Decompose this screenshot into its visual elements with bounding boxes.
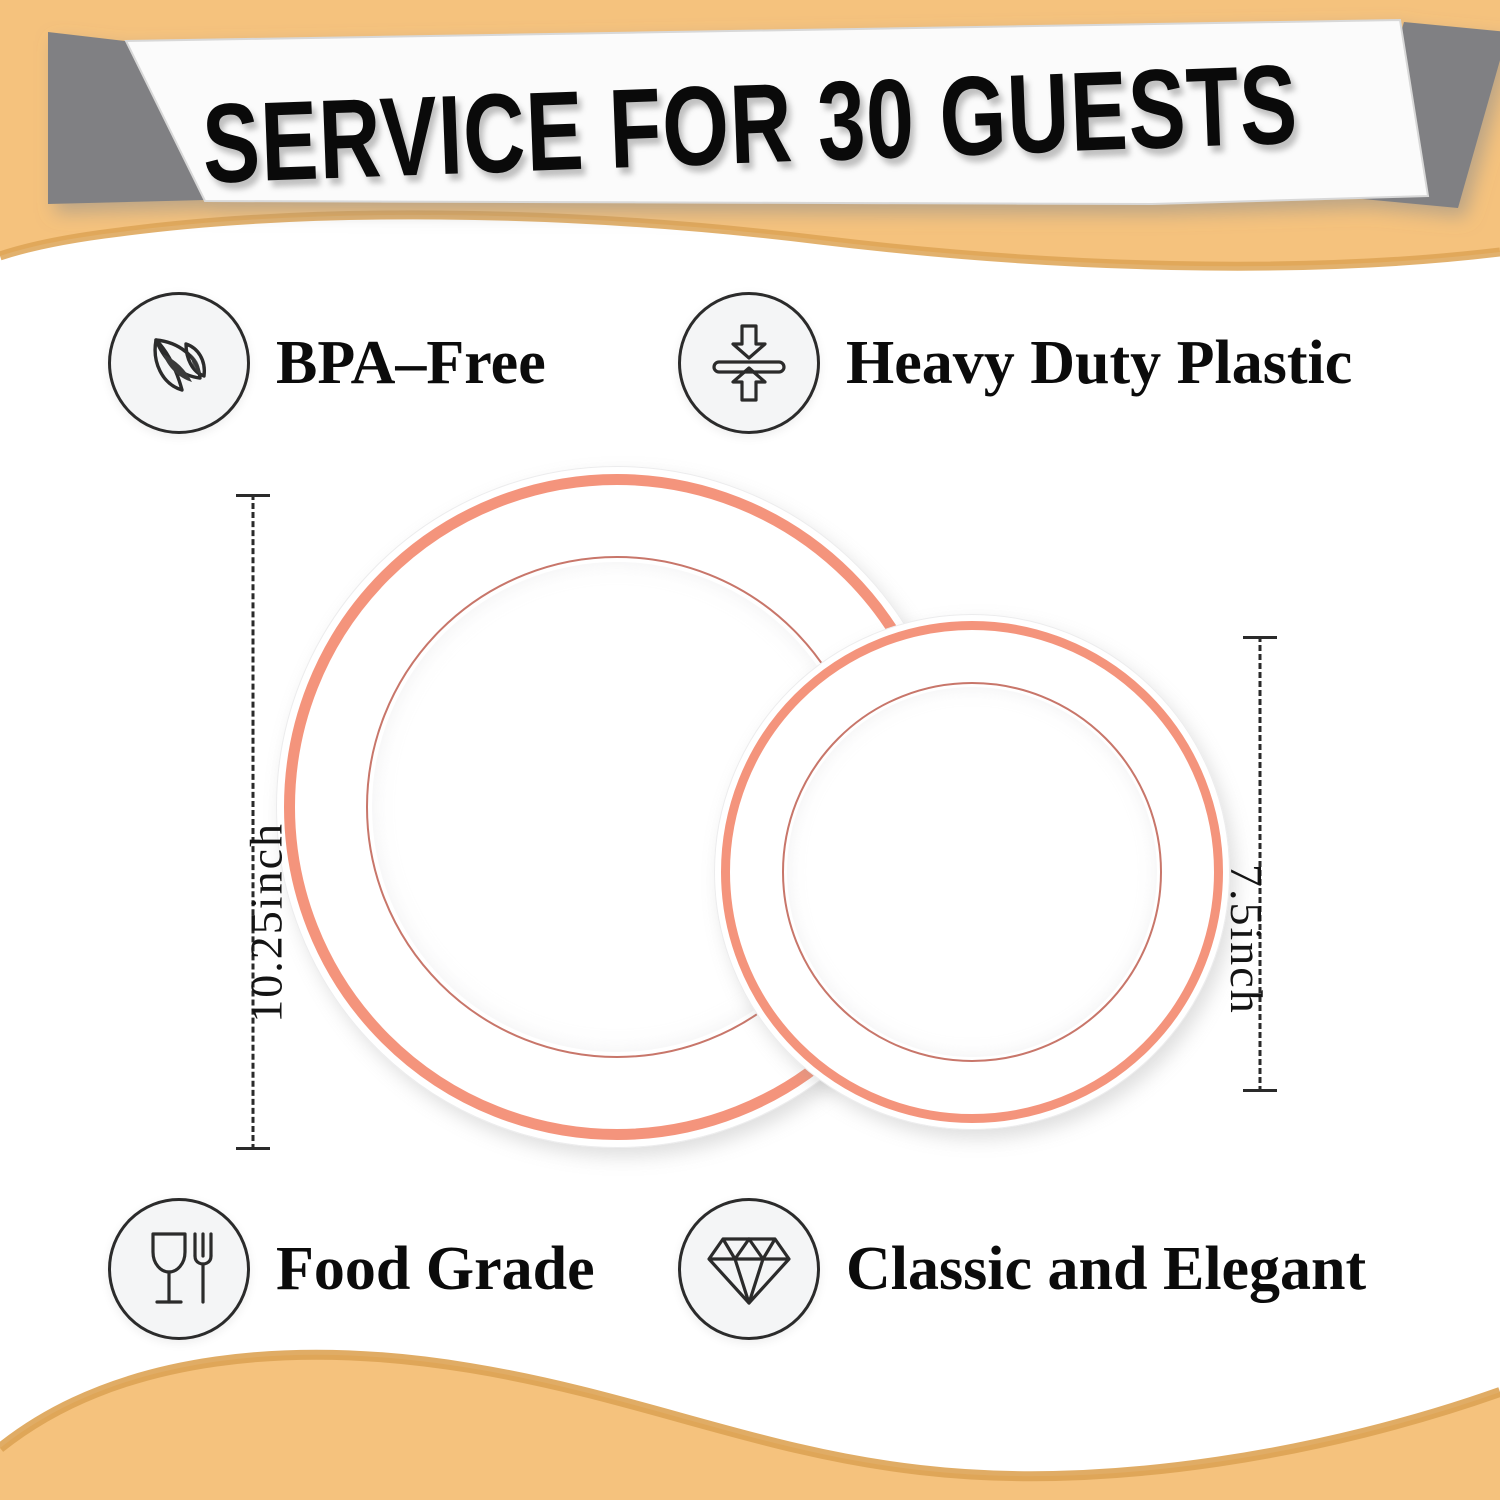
feature-food-grade: Food Grade — [108, 1198, 595, 1340]
leaf-icon — [108, 292, 250, 434]
feature-bpa-free-label: BPA–Free — [276, 332, 546, 394]
dimension-label-large: 10.25inch — [240, 822, 293, 1023]
banner-title-wrap: SERVICE FOR 30 GUESTS — [0, 0, 1500, 260]
feature-heavy-duty-label: Heavy Duty Plastic — [846, 332, 1352, 394]
dimension-label-small: 7.5inch — [1220, 864, 1273, 1015]
feature-heavy-duty: Heavy Duty Plastic — [678, 292, 1352, 434]
dimension-small-plate: 7.5inch — [1243, 636, 1277, 1092]
bottom-orange-wave — [0, 1355, 1500, 1500]
dimension-cap-bottom — [1243, 1089, 1277, 1092]
feature-bpa-free: BPA–Free — [108, 292, 546, 434]
feature-food-grade-label: Food Grade — [276, 1238, 595, 1300]
dimension-label-wrap: 10.25inch — [240, 822, 293, 1023]
glass-fork-icon — [108, 1198, 250, 1340]
product-infographic: SERVICE FOR 30 GUESTS BPA–Free — [0, 0, 1500, 1500]
dimension-large-plate: 10.25inch — [236, 494, 270, 1150]
header-banner: SERVICE FOR 30 GUESTS — [0, 0, 1500, 260]
diamond-icon — [678, 1198, 820, 1340]
plate-well — [787, 687, 1157, 1057]
bottom-orange-wave-edge — [0, 1355, 1500, 1476]
feature-classic-elegant: Classic and Elegant — [678, 1198, 1366, 1340]
feature-classic-elegant-label: Classic and Elegant — [846, 1238, 1366, 1300]
dimension-label-wrap: 7.5inch — [1220, 864, 1273, 1015]
salad-plate — [714, 614, 1230, 1130]
compression-icon — [678, 292, 820, 434]
page-title: SERVICE FOR 30 GUESTS — [200, 39, 1300, 209]
dimension-cap-bottom — [236, 1147, 270, 1150]
